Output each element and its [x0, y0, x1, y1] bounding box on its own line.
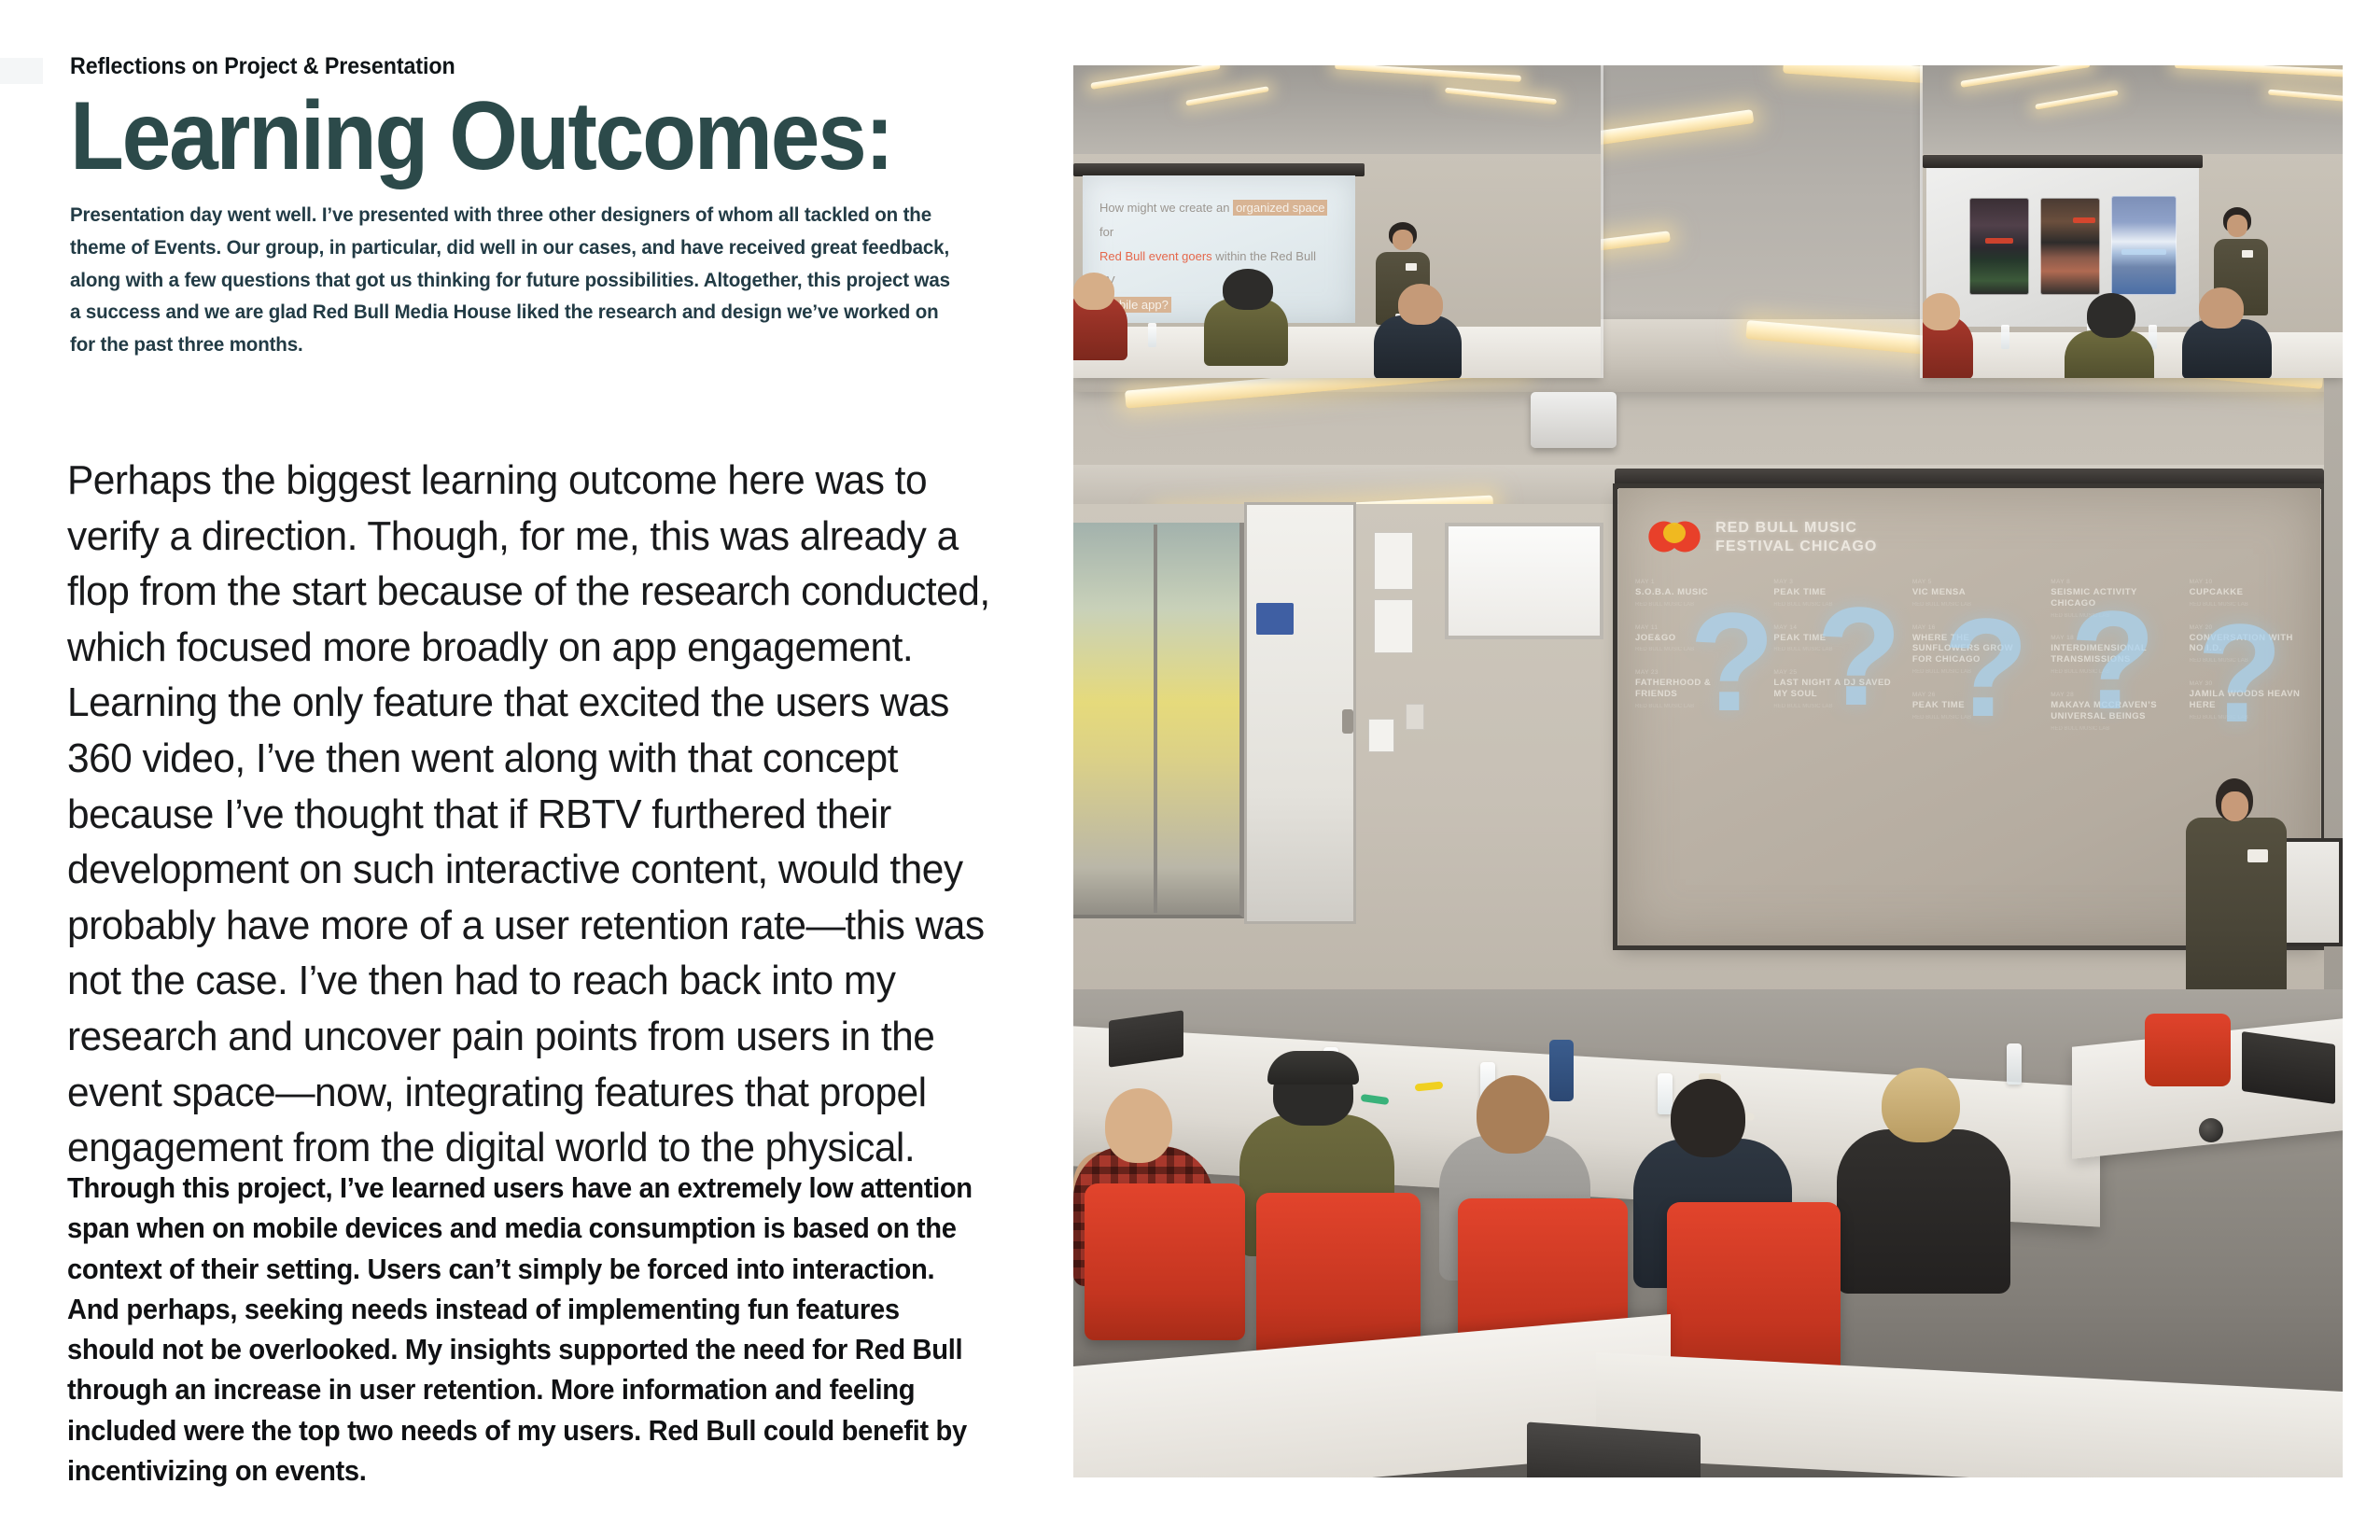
app-screen-mockup — [2040, 198, 2100, 295]
lineup-name: S.O.B.A. MUSIC — [1635, 587, 1753, 598]
lineup-sub: RED BULL MUSIC LAB — [1635, 646, 1753, 654]
lineup-sub: RED BULL MUSIC LAB — [1635, 601, 1753, 609]
lineup-sub: RED BULL MUSIC LAB — [2051, 725, 2168, 734]
lineup-date: MAY 26 — [1912, 692, 2030, 698]
app-accent-bar — [2073, 217, 2095, 223]
water-bottle — [1148, 323, 1156, 347]
chair-caster — [2199, 1118, 2223, 1142]
presenter-name-badge — [2247, 849, 2268, 862]
office-chair — [1085, 1183, 1245, 1340]
lineup-name: JAMILA WOODS HEAVN HERE — [2190, 689, 2307, 711]
presentation-photo: RED BULL MUSIC FESTIVAL CHICAGO MAY 1 S.… — [1073, 65, 2343, 1477]
lineup-name: WHERE THE SUNFLOWERS GROW FOR CHICAGO — [1912, 633, 2030, 666]
inset-projection-screen — [1926, 168, 2199, 327]
inset-divider — [1920, 65, 1923, 378]
wall-switch — [1406, 704, 1424, 730]
lineup-date: MAY 5 — [1912, 579, 2030, 585]
lineup-sub: RED BULL MUSIC LAB — [1635, 703, 1753, 711]
lineup-name: PEAK TIME — [1773, 633, 1891, 644]
wall-poster — [1374, 532, 1413, 590]
slide-title: RED BULL MUSIC FESTIVAL CHICAGO — [1715, 519, 1877, 557]
wall-poster — [1374, 599, 1413, 653]
attendee-head — [1477, 1075, 1549, 1154]
lineup-name: INTERDIMENSIONAL TRANSMISSIONS — [2051, 643, 2168, 665]
lineup-name: SEISMIC ACTIVITY CHICAGO — [2051, 587, 2168, 609]
page-edge-strip — [0, 58, 43, 84]
lineup-name: MAKAYA MCCRAVEN’S UNIVERSAL BEINGS — [2051, 700, 2168, 722]
app-accent-bar — [2121, 249, 2166, 255]
office-chair — [2145, 1014, 2231, 1086]
lineup-sub: RED BULL MUSIC LAB — [1773, 601, 1891, 609]
page-title: Learning Outcomes: — [70, 90, 945, 184]
hmw-line-1-post: for — [1099, 225, 1113, 239]
lineup-date: MAY 18 — [2051, 635, 2168, 641]
intro-paragraph: Presentation day went well. I’ve present… — [70, 199, 961, 361]
article-text-column: Reflections on Project & Presentation Le… — [70, 52, 1031, 361]
lineup-sub: RED BULL MUSIC LAB — [2190, 714, 2307, 722]
office-chair — [1667, 1202, 1841, 1376]
slide-title-line-1: RED BULL MUSIC — [1715, 519, 1877, 538]
inset-photo-hmw-slide: How might we create an organized space f… — [1073, 65, 1601, 378]
projector — [1531, 392, 1617, 448]
lineup-name: JOE&GO — [1635, 633, 1753, 644]
attendee-head — [1923, 293, 1960, 330]
presenter-face — [1393, 230, 1413, 250]
lineup-date: MAY 1 — [1635, 579, 1753, 585]
attendee-head — [1882, 1068, 1960, 1142]
app-screen-mockup — [1969, 198, 2029, 295]
glass-partition-frame — [1073, 523, 1244, 918]
water-bottle — [2001, 325, 2009, 349]
door-sign — [1256, 603, 1294, 635]
lineup-name: CUPCAKKE — [2190, 587, 2307, 598]
lineup-sub: RED BULL MUSIC LAB — [2051, 668, 2168, 677]
presenter-name-badge — [1406, 263, 1417, 271]
lineup-date: MAY 20 — [2190, 624, 2307, 631]
lineup-date: MAY 25 — [1773, 669, 1891, 676]
attendee-body — [1374, 315, 1462, 378]
hmw-line-2: Red Bull event goers within the Red Bull… — [1099, 245, 1333, 293]
body-block: Perhaps the biggest learning outcome her… — [67, 453, 1038, 1176]
glass-mullion — [1154, 525, 1157, 913]
lineup-sub: RED BULL MUSIC LAB — [1912, 714, 2030, 722]
lineup-date: MAY 16 — [1912, 624, 2030, 631]
attendee-head — [1671, 1079, 1745, 1157]
thermos-bottle — [1549, 1040, 1574, 1101]
closing-paragraph: Through this project, I’ve learned users… — [67, 1169, 986, 1491]
eyebrow-label: Reflections on Project & Presentation — [70, 52, 964, 80]
attendee-head — [1105, 1088, 1172, 1163]
presenter-face — [2227, 215, 2247, 237]
lineup-sub: RED BULL MUSIC LAB — [1912, 601, 2030, 609]
lineup-column: MAY 3 PEAK TIME RED BULL MUSIC LAB MAY 1… — [1773, 579, 1891, 937]
lineup-date: MAY 11 — [1635, 624, 1753, 631]
hmw-line-1: How might we create an organized space f… — [1099, 196, 1333, 245]
lineup-name: FATHERHOOD & FRIENDS — [1635, 678, 1753, 700]
inset-photo-app-screens-slide — [1923, 65, 2343, 378]
hmw-slide-text: How might we create an organized space f… — [1099, 196, 1333, 317]
lineup-sub: RED BULL MUSIC LAB — [2051, 612, 2168, 621]
attendee-head — [1398, 284, 1443, 325]
wall-poster — [1368, 719, 1394, 752]
attendee-cap — [1267, 1051, 1359, 1085]
lineup-column: MAY 5 VIC MENSA RED BULL MUSIC LAB MAY 1… — [1912, 579, 2030, 937]
slide-title-line-2: FESTIVAL CHICAGO — [1715, 538, 1877, 556]
lineup-column: MAY 1 S.O.B.A. MUSIC RED BULL MUSIC LAB … — [1635, 579, 1753, 937]
attendee-body — [1837, 1129, 2010, 1294]
lineup-sub: RED BULL MUSIC LAB — [2190, 601, 2307, 609]
red-bull-logo-icon — [1648, 521, 1701, 553]
lineup-sub: RED BULL MUSIC LAB — [1773, 703, 1891, 711]
lineup-name: VIC MENSA — [1912, 587, 2030, 598]
inset-divider — [1601, 65, 1603, 378]
water-bottle — [2007, 1043, 2022, 1085]
attendee-head — [1223, 269, 1273, 310]
presenter-body — [2186, 818, 2287, 1001]
lineup-sub: RED BULL MUSIC LAB — [1912, 668, 2030, 677]
water-bottle — [1658, 1073, 1673, 1114]
app-accent-bar — [1985, 238, 2013, 244]
lineup-sub: RED BULL MUSIC LAB — [2190, 657, 2307, 665]
attendee-head — [2087, 293, 2135, 338]
lineup-name: PEAK TIME — [1912, 700, 2030, 711]
lineup-date: MAY 14 — [1773, 624, 1891, 631]
lineup-date: MAY 28 — [2051, 692, 2168, 698]
lineup-name: CONVERSATION WITH NO I.D. — [2190, 633, 2307, 655]
lineup-name: PEAK TIME — [1773, 587, 1891, 598]
lineup-date: MAY 8 — [2051, 579, 2168, 585]
office-chair — [1256, 1193, 1421, 1357]
inset-screen-housing — [1073, 163, 1365, 176]
hmw-line-1-pre: How might we create an — [1099, 201, 1233, 215]
hmw-highlight-organized-space: organized space — [1233, 200, 1327, 216]
projection-screen-housing — [1615, 469, 2324, 489]
app-screen-mockup — [2111, 196, 2177, 295]
lineup-column: MAY 8 SEISMIC ACTIVITY CHICAGO RED BULL … — [2051, 579, 2168, 937]
inset-screen-housing — [1923, 155, 2203, 168]
lineup-date: MAY 3 — [1773, 579, 1891, 585]
hmw-highlight-red-bull-event-goers: Red Bull event goers — [1099, 249, 1212, 263]
lineup-sub: RED BULL MUSIC LAB — [1773, 646, 1891, 654]
attendee-head — [1073, 273, 1114, 310]
whiteboard-left — [1445, 523, 1603, 639]
body-paragraph: Perhaps the biggest learning outcome her… — [67, 453, 1004, 1176]
lineup-date: MAY 10 — [2190, 579, 2307, 585]
lineup-date: MAY 30 — [2190, 680, 2307, 687]
presenter-name-badge — [2242, 250, 2253, 258]
door-handle — [1342, 709, 1353, 734]
lineup-name: LAST NIGHT A DJ SAVED MY SOUL — [1773, 678, 1891, 700]
presenter-face — [2221, 791, 2248, 821]
lineup-date: MAY 23 — [1635, 669, 1753, 676]
attendee-head — [2199, 287, 2244, 329]
room-door — [1244, 502, 1356, 924]
